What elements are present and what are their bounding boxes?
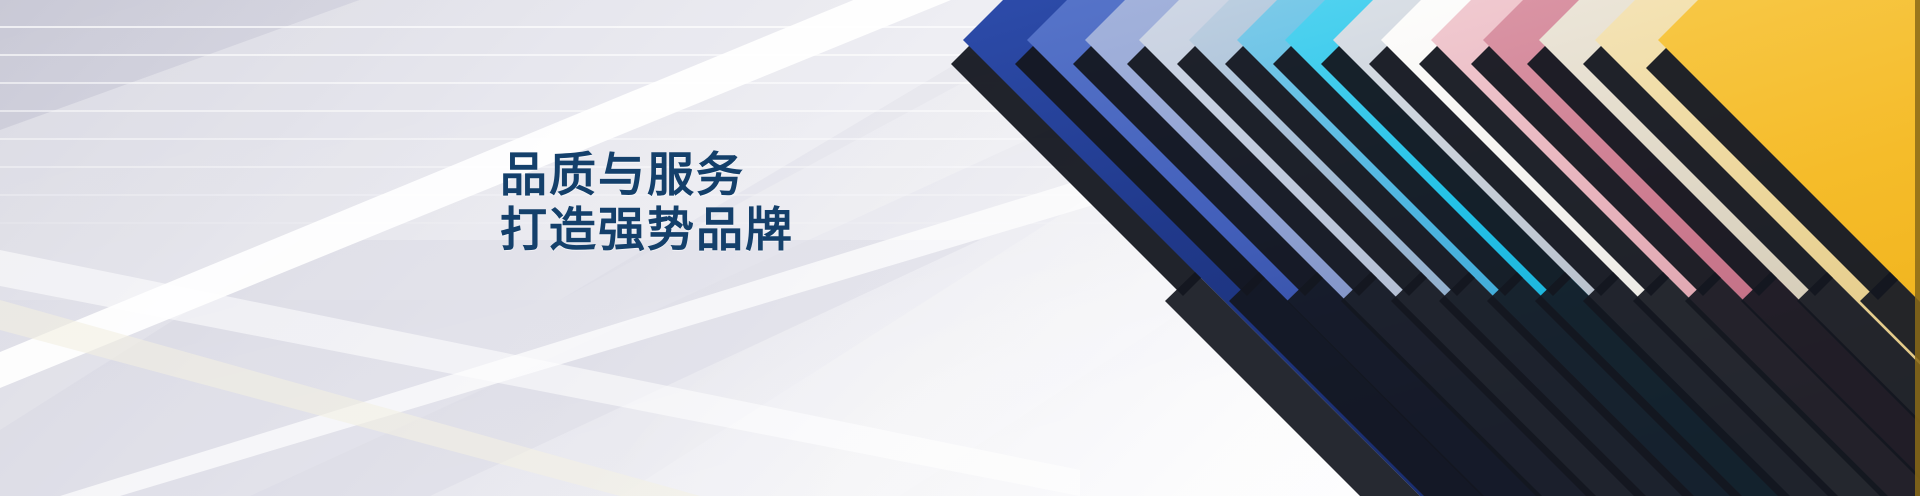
fan-right-edge bbox=[1915, 0, 1920, 496]
promo-banner: 品质与服务 打造强势品牌 bbox=[0, 0, 1920, 496]
headline-line-1: 品质与服务 bbox=[500, 148, 794, 203]
headline-line-2: 打造强势品牌 bbox=[500, 203, 794, 258]
color-sample-fan bbox=[0, 0, 1920, 496]
headline: 品质与服务 打造强势品牌 bbox=[500, 148, 794, 257]
